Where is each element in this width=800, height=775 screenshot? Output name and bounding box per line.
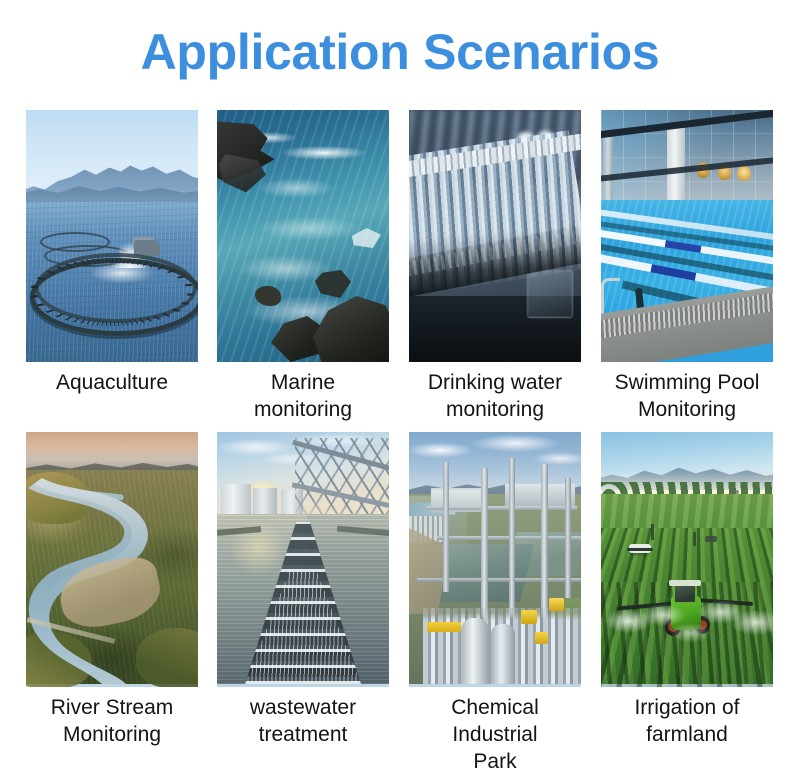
scenario-card-irrigation-of-farmland[interactable]: Irrigation of farmland [601,432,773,748]
caption-line: wastewater [217,694,389,721]
vertical-pipe-icon [541,464,548,620]
drinking-water-monitoring-image[interactable] [409,110,581,362]
yellow-valve-icon [535,632,548,644]
tractor-roof-icon [669,580,701,586]
sea-rock-tiny-icon [255,286,281,306]
storage-tank-icon [253,488,277,516]
aquaculture-image[interactable] [26,110,198,362]
irrigation-of-farmland-caption: Irrigation of farmland [601,694,773,748]
marine-monitoring-image[interactable] [217,110,389,362]
swimming-pool-monitoring-caption: Swimming Pool Monitoring [601,369,773,423]
scenario-card-aquaculture[interactable]: Aquaculture [26,110,198,396]
vertical-pipe-icon [481,468,488,618]
storage-tank-icon [221,484,251,516]
caption-line: Aquaculture [26,369,198,396]
scenario-card-chemical-industrial-park[interactable]: Chemical Industrial Park [409,432,581,775]
yellow-valve-icon [549,598,564,611]
chemical-industrial-park-caption: Chemical Industrial Park [409,694,581,775]
river-stream-monitoring-caption: River Stream Monitoring [26,694,198,748]
vertical-pipe-icon [509,458,515,618]
vertical-pipe-icon [565,478,571,598]
caption-line: Irrigation of [601,694,773,721]
application-scenarios-page: Application Scenarios [0,0,800,774]
hill-right-icon [136,628,198,687]
caption-line: Park [409,748,581,775]
fish-pen-posts-icon [30,258,194,326]
pool-ladder-icon [601,278,620,315]
steel-truss-icon [295,438,389,522]
process-tank-icon [491,624,515,684]
caption-line: treatment [217,721,389,748]
scenario-card-drinking-water-monitoring[interactable]: Drinking water monitoring [409,110,581,423]
caption-line: River Stream [26,694,198,721]
caption-line: farmland [601,721,773,748]
spray-mist-layer [601,590,773,664]
caption-line: Monitoring [26,721,198,748]
irrigation-of-farmland-image[interactable] [601,432,773,687]
scenario-card-wastewater-treatment[interactable]: wastewater treatment [217,432,389,748]
scenario-card-marine-monitoring[interactable]: Marine monitoring [217,110,389,423]
hall-column-icon [603,132,613,206]
river-stream-monitoring-image[interactable] [26,432,198,687]
scenario-card-swimming-pool-monitoring[interactable]: Swimming Pool Monitoring [601,110,773,423]
marine-monitoring-caption: Marine monitoring [217,369,389,423]
drone-arm-icon [627,548,653,551]
wastewater-treatment-image[interactable] [217,432,389,687]
caption-line: Swimming Pool [601,369,773,396]
vertical-pipe-icon [443,462,449,592]
drone-icon [731,490,739,494]
wastewater-treatment-caption: wastewater treatment [217,694,389,748]
pipe-rack-crossbeam [417,578,581,582]
caption-line: Monitoring [601,396,773,423]
process-tank-icon [461,618,489,684]
page-title: Application Scenarios [0,22,800,82]
caption-line: Chemical Industrial [409,694,581,748]
scenario-row-2: River Stream Monitoring [0,432,800,762]
scenario-row-1: Aquaculture Marine [0,110,800,432]
caption-line: Drinking water [409,369,581,396]
caption-line: monitoring [409,396,581,423]
pendant-lamp-icon [737,166,751,181]
aquaculture-caption: Aquaculture [26,369,198,396]
pipe-rack-crossbeam [427,506,577,510]
yellow-valve-icon [521,610,537,624]
yellow-valve-icon [427,622,461,632]
chemical-industrial-park-image[interactable] [409,432,581,687]
drone-icon [705,536,717,542]
swimming-pool-monitoring-image[interactable] [601,110,773,362]
field-post-icon [651,524,654,540]
drinking-water-monitoring-caption: Drinking water monitoring [409,369,581,423]
caption-line: monitoring [217,396,389,423]
scenario-card-river-stream-monitoring[interactable]: River Stream Monitoring [26,432,198,748]
caption-line: Marine [217,369,389,396]
field-post-icon [693,532,696,546]
scenario-grid: Aquaculture Marine [0,110,800,762]
